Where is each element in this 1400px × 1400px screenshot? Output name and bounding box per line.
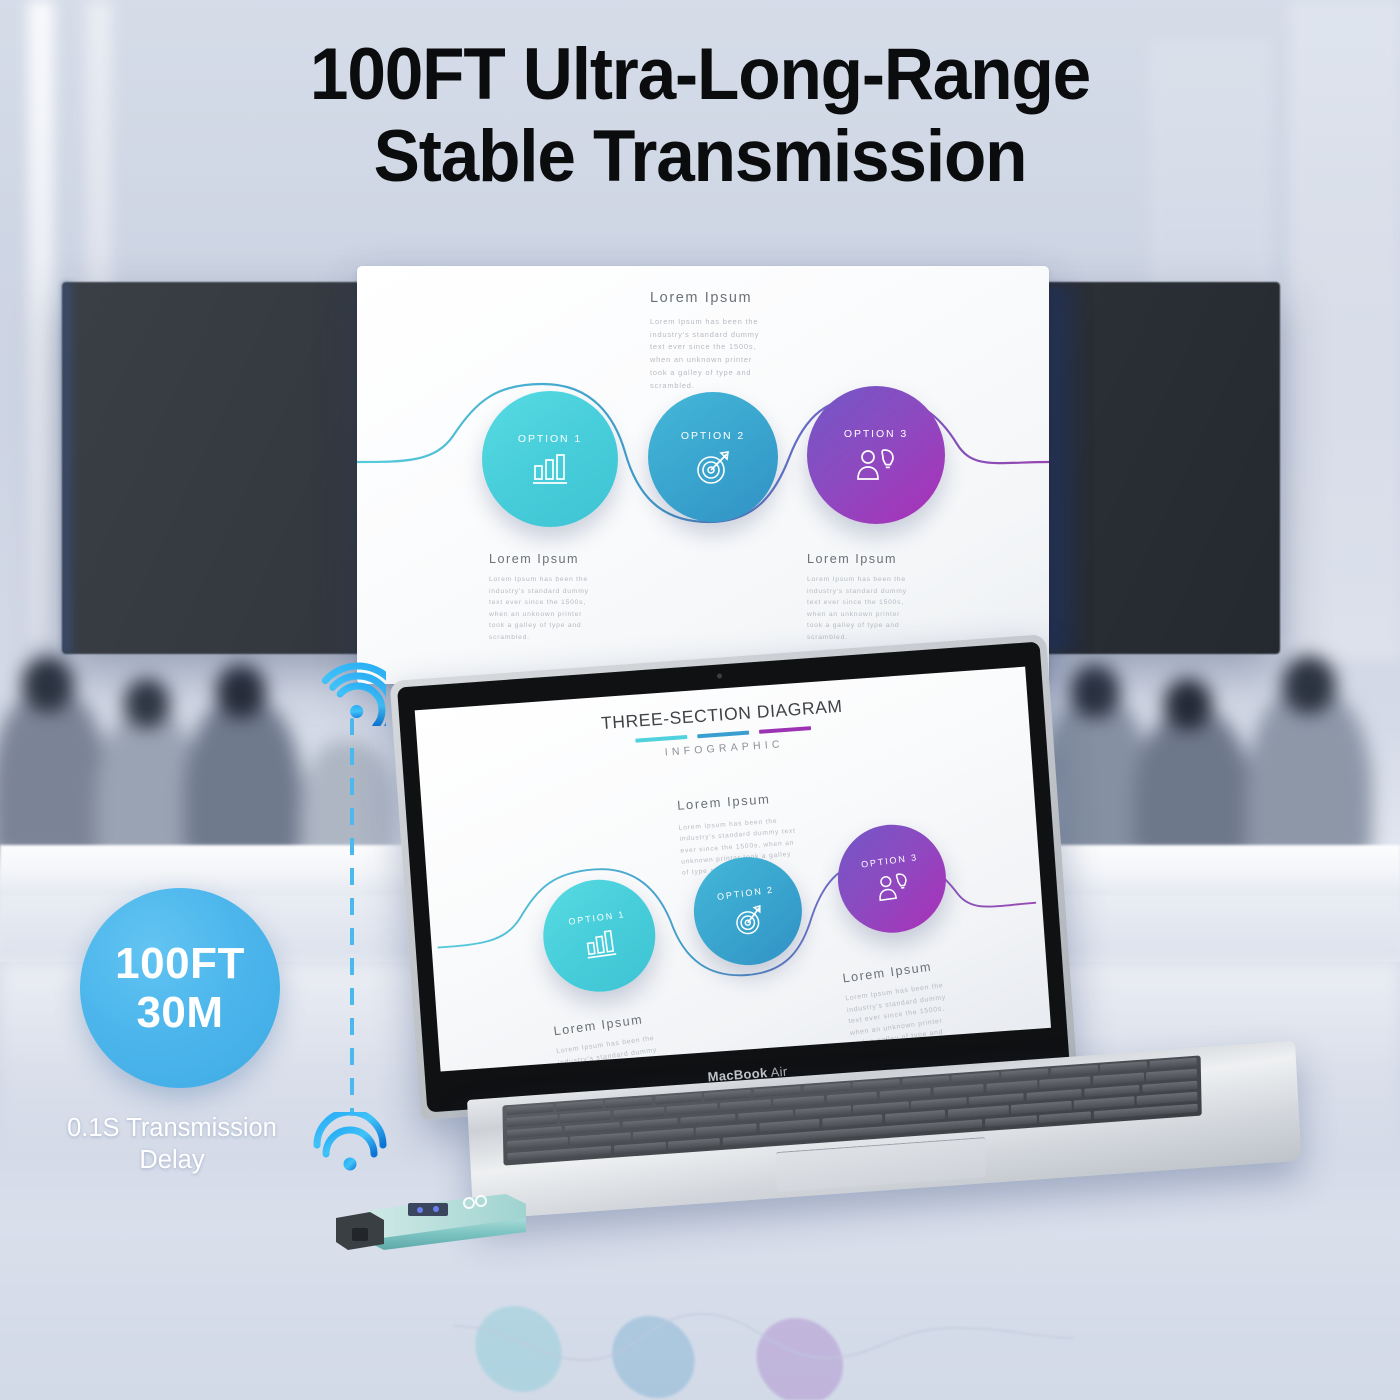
delay-callout: 0.1S Transmission Delay (22, 1112, 322, 1176)
badge-meters: 30M (136, 988, 223, 1037)
badge-feet: 100FT (115, 939, 245, 988)
trackpad[interactable] (776, 1137, 986, 1192)
laptop-slide: THREE-SECTION DIAGRAM INFOGRAPHIC Lorem … (415, 667, 1051, 1072)
laptop-bezel: THREE-SECTION DIAGRAM INFOGRAPHIC Lorem … (397, 642, 1070, 1113)
bar-chart-icon (583, 928, 619, 961)
target-icon (694, 449, 732, 485)
laptop-lid: THREE-SECTION DIAGRAM INFOGRAPHIC Lorem … (390, 634, 1078, 1120)
slide-text-block: Lorem Ipsum Lorem Ipsum has been the ind… (807, 552, 967, 643)
wifi-icon (310, 1112, 390, 1174)
signal-dashed-line (350, 718, 354, 1116)
monitor-edge-left (62, 282, 78, 654)
delay-line-2: Delay (139, 1146, 204, 1174)
slide-heading: Lorem Ipsum (650, 290, 850, 306)
headline-line-2: Stable Transmission (35, 116, 1365, 198)
option-label: OPTION 1 (568, 909, 626, 927)
page-title: 100FT Ultra-Long-Range Stable Transmissi… (35, 34, 1365, 198)
dongle-port (352, 1228, 368, 1241)
option-label: OPTION 1 (518, 433, 582, 445)
product-marketing-image: Lorem Ipsum Lorem Ipsum has been the ind… (0, 0, 1400, 1400)
block-heading: Lorem Ipsum (489, 552, 649, 566)
monitor-edge-right (1048, 286, 1088, 650)
delay-line-1: 0.1S Transmission (67, 1114, 277, 1142)
target-icon (731, 903, 767, 937)
block-body: Lorem Ipsum has been the industry's stan… (845, 979, 963, 1062)
option-label: OPTION 3 (861, 852, 919, 870)
slide-body: Lorem Ipsum has been the industry's stan… (650, 316, 768, 392)
headline-line-1: 100FT Ultra-Long-Range (35, 34, 1365, 116)
block-heading: Lorem Ipsum (807, 552, 967, 566)
slide-option-3[interactable]: OPTION 3 (807, 386, 945, 524)
option-label: OPTION 2 (716, 884, 774, 902)
dongle-display (408, 1203, 448, 1216)
person-idea-icon (874, 870, 912, 903)
floor-reflection (449, 1288, 1081, 1400)
bar-chart-icon (531, 452, 569, 486)
block-body: Lorem Ipsum has been the industry's stan… (489, 574, 599, 643)
person-idea-icon (855, 447, 897, 483)
usb-wireless-transmitter (330, 1188, 530, 1254)
option-label: OPTION 3 (844, 428, 908, 440)
block-body: Lorem Ipsum has been the industry's stan… (807, 574, 917, 643)
laptop-screen: THREE-SECTION DIAGRAM INFOGRAPHIC Lorem … (415, 667, 1051, 1072)
projected-slide: Lorem Ipsum Lorem Ipsum has been the ind… (357, 266, 1049, 684)
slide-header: Lorem Ipsum Lorem Ipsum has been the ind… (650, 290, 850, 392)
webcam-icon (716, 673, 721, 678)
slide-text-block: Lorem Ipsum Lorem Ipsum has been the ind… (489, 552, 649, 643)
slide-option-2[interactable]: OPTION 2 (648, 392, 778, 522)
block-body: Lorem Ipsum has been the industry's stan… (556, 1032, 674, 1072)
option-label: OPTION 2 (681, 430, 745, 442)
slide-option-1[interactable]: OPTION 1 (482, 391, 618, 527)
macbook-air-laptop: THREE-SECTION DIAGRAM INFOGRAPHIC Lorem … (405, 660, 1305, 1300)
wifi-icon (300, 638, 386, 726)
distance-badge: 100FT 30M (80, 888, 280, 1088)
